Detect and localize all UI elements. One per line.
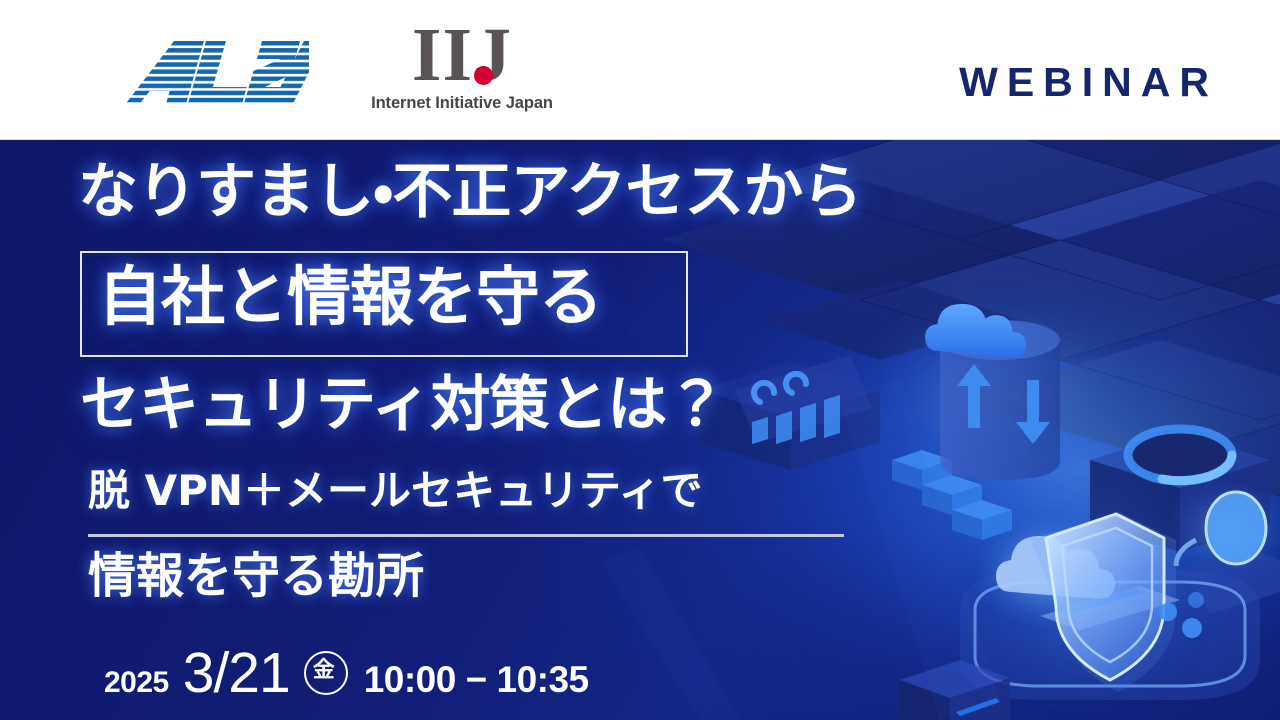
schedule-year: 2025: [104, 666, 169, 700]
schedule-time: 10:00 − 10:35: [364, 659, 589, 701]
alsi-logo: [84, 41, 309, 103]
headline-block: なりすまし・不正アクセスから 自社と情報を守る セキュリティ対策とは？ 脱 VP…: [0, 140, 1280, 720]
webinar-label: WEBINAR: [959, 59, 1218, 106]
title-line-1: なりすまし・不正アクセスから: [78, 162, 861, 222]
schedule: 2025 3/21 金 10:00 − 10:35: [104, 640, 589, 706]
schedule-day-of-week: 金: [306, 653, 342, 689]
header-divider: [0, 139, 1280, 140]
schedule-day-of-week-badge: 金: [304, 651, 348, 695]
iij-red-dot-icon: [474, 66, 493, 85]
title-line-2: 自社と情報を守る: [98, 266, 602, 330]
schedule-date: 3/21: [183, 640, 290, 706]
subtitle-divider: [88, 534, 844, 537]
subtitle-line-2: 情報を守る勘所: [88, 552, 424, 600]
subtitle-line-1: 脱 VPN＋メールセキュリティで: [88, 470, 703, 512]
title-line-3: セキュリティ対策とは？: [80, 375, 725, 435]
iij-logo: IIJ Internet Initiative Japan: [362, 18, 562, 124]
header-bar: IIJ Internet Initiative Japan WEBINAR: [0, 0, 1280, 140]
webinar-banner: なりすまし・不正アクセスから 自社と情報を守る セキュリティ対策とは？ 脱 VP…: [0, 0, 1280, 720]
iij-wordmark: IIJ: [362, 18, 562, 92]
